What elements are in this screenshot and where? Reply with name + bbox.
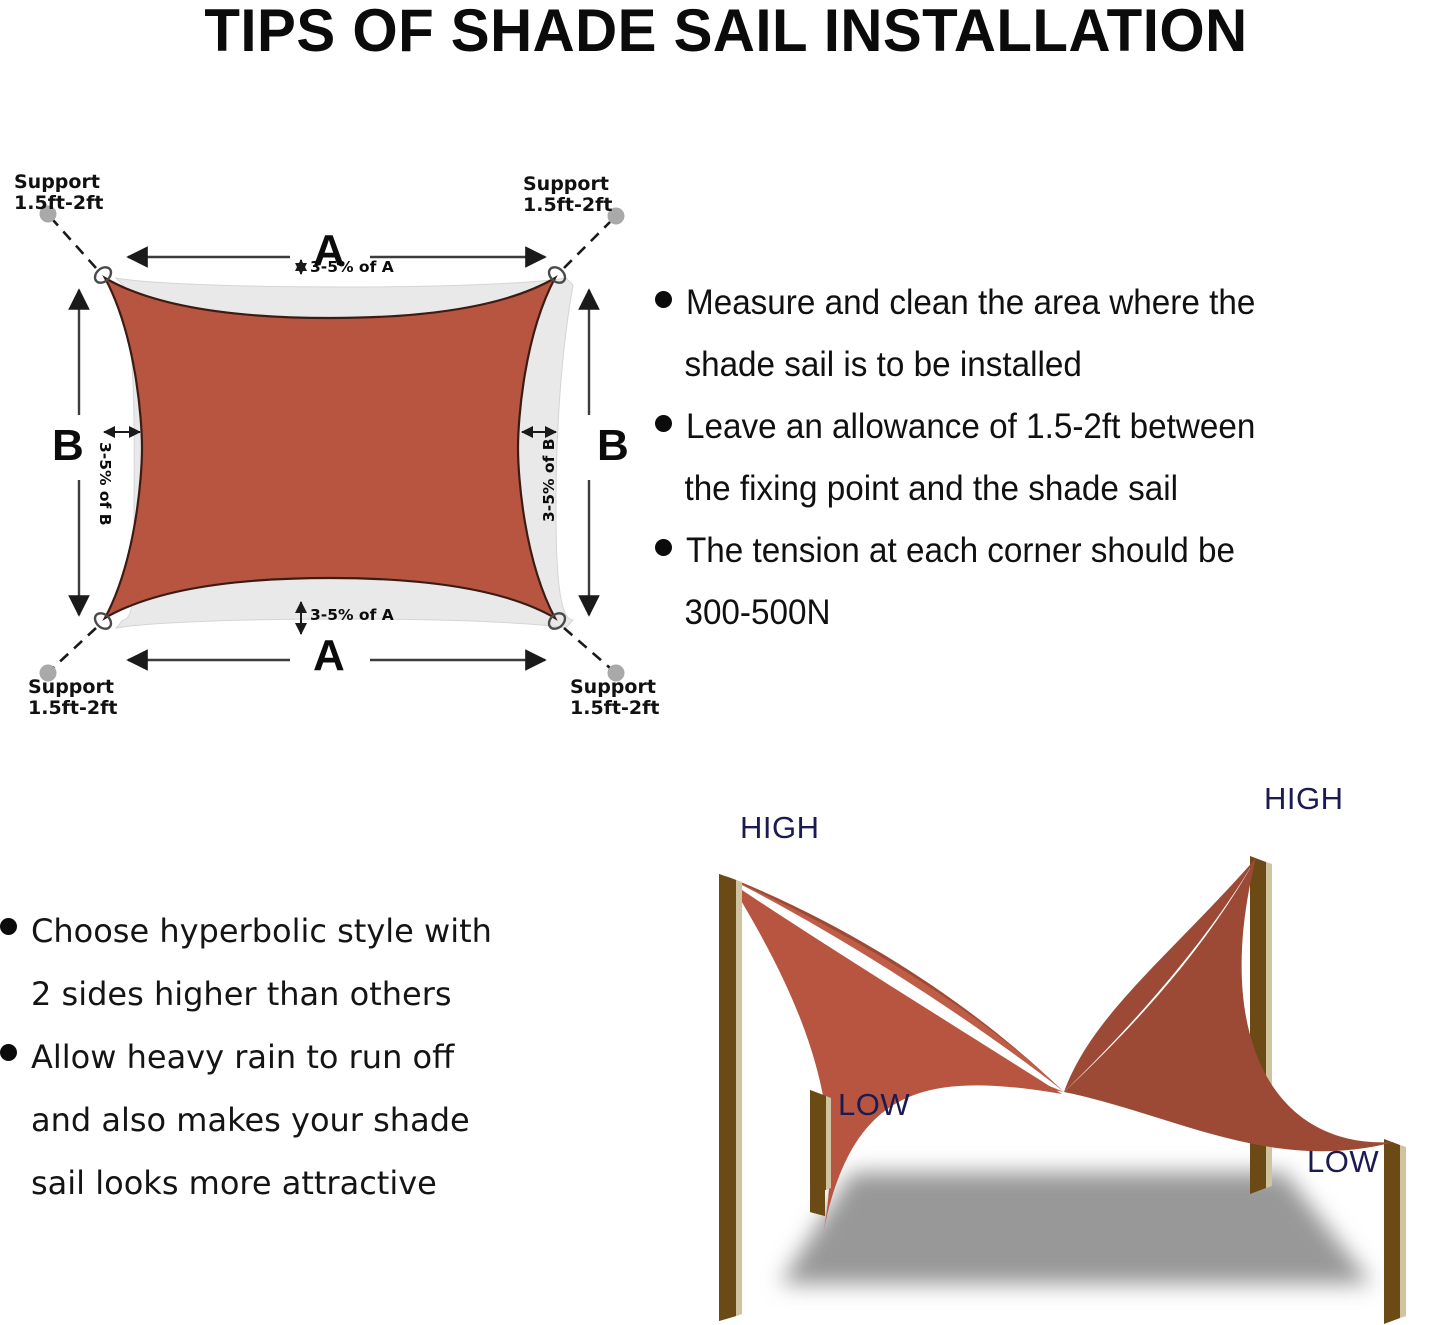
hyperbolic-sail-drawing [672,784,1452,1325]
list-item-continuation: shade sail is to be installed [655,334,1452,396]
support-label-bottom-left: Support 1.5ft-2ft [28,677,117,720]
post-high-left-front [719,874,742,1321]
support-label-bottom-right: Support 1.5ft-2ft [570,677,659,720]
label-high-right: HIGH [1264,783,1344,814]
support-label-line2: 1.5ft-2ft [570,698,659,719]
post-low-right [1384,1139,1406,1324]
list-item-label: Measure and clean the area where the [686,272,1417,334]
dimension-letter-a-bottom: A [313,634,345,678]
bullet-dot-icon [655,415,672,432]
hyperbolic-sail-diagram: HIGH HIGH LOW LOW [672,784,1452,1325]
label-high-left: HIGH [740,812,820,843]
support-label-top-left: Support 1.5ft-2ft [14,172,103,215]
sail-lobe-right [1064,858,1394,1151]
support-label-line1: Support [570,677,659,698]
label-low-left: LOW [838,1089,910,1120]
page-title: TIPS OF SHADE SAIL INSTALLATION [22,0,1430,65]
list-item-continuation: 2 sides higher than others [0,963,630,1026]
post-low-left-front [810,1090,831,1190]
label-low-right: LOW [1307,1146,1379,1177]
bullet-dot-icon [655,291,672,308]
dimension-letter-b-right: B [597,424,629,468]
shade-sail-shape [105,278,555,618]
bullet-dot-icon [655,539,672,556]
curve-label-top: 3-5% of A [310,260,394,276]
installation-tips-list: Measure and clean the area where the sha… [655,272,1452,644]
support-label-line1: Support [28,677,117,698]
list-item-label: 300-500N [655,582,1415,644]
list-item-label: 2 sides higher than others [0,963,630,1026]
bullet-dot-icon [0,918,17,935]
support-label-line2: 1.5ft-2ft [14,193,103,214]
list-item-continuation: 300-500N [655,582,1452,644]
list-item-label: Leave an allowance of 1.5-2ft between [686,396,1417,458]
hyperbolic-tips-list: Choose hyperbolic style with 2 sides hig… [0,900,630,1215]
support-label-line2: 1.5ft-2ft [28,698,117,719]
list-item: Allow heavy rain to run off [0,1026,630,1089]
rectangular-sail-diagram: A A B B 3-5% of A 3-5% of A 3-5% of B 3-… [0,150,660,740]
ground-shadow [780,1172,1372,1284]
curve-label-bottom: 3-5% of A [310,608,394,624]
list-item-continuation: the fixing point and the shade sail [655,458,1452,520]
bullet-dot-icon [0,1044,17,1061]
list-item-label: The tension at each corner should be [686,520,1417,582]
dimension-letter-b-left: B [52,424,84,468]
list-item-label: the fixing point and the shade sail [655,458,1415,520]
tether-line [53,628,96,668]
support-label-top-right: Support 1.5ft-2ft [523,174,612,217]
list-item-label: shade sail is to be installed [655,334,1415,396]
list-item-continuation: and also makes your shade [0,1089,630,1152]
curve-label-right: 3-5% of B [542,438,558,522]
list-item-label: and also makes your shade [0,1089,630,1152]
list-item: Leave an allowance of 1.5-2ft between [655,396,1452,458]
list-item-label: sail looks more attractive [0,1152,630,1215]
list-item: Choose hyperbolic style with [0,900,630,963]
list-item-label: Choose hyperbolic style with [31,900,630,963]
tether-line [564,222,610,268]
support-label-line2: 1.5ft-2ft [523,195,612,216]
list-item-continuation: sail looks more attractive [0,1152,630,1215]
curve-label-left: 3-5% of B [97,442,113,526]
tether-line [53,220,96,268]
list-item-label: Allow heavy rain to run off [31,1026,630,1089]
list-item: The tension at each corner should be [655,520,1452,582]
support-label-line1: Support [14,172,103,193]
list-item: Measure and clean the area where the [655,272,1452,334]
support-label-line1: Support [523,174,612,195]
tether-line [564,628,610,668]
